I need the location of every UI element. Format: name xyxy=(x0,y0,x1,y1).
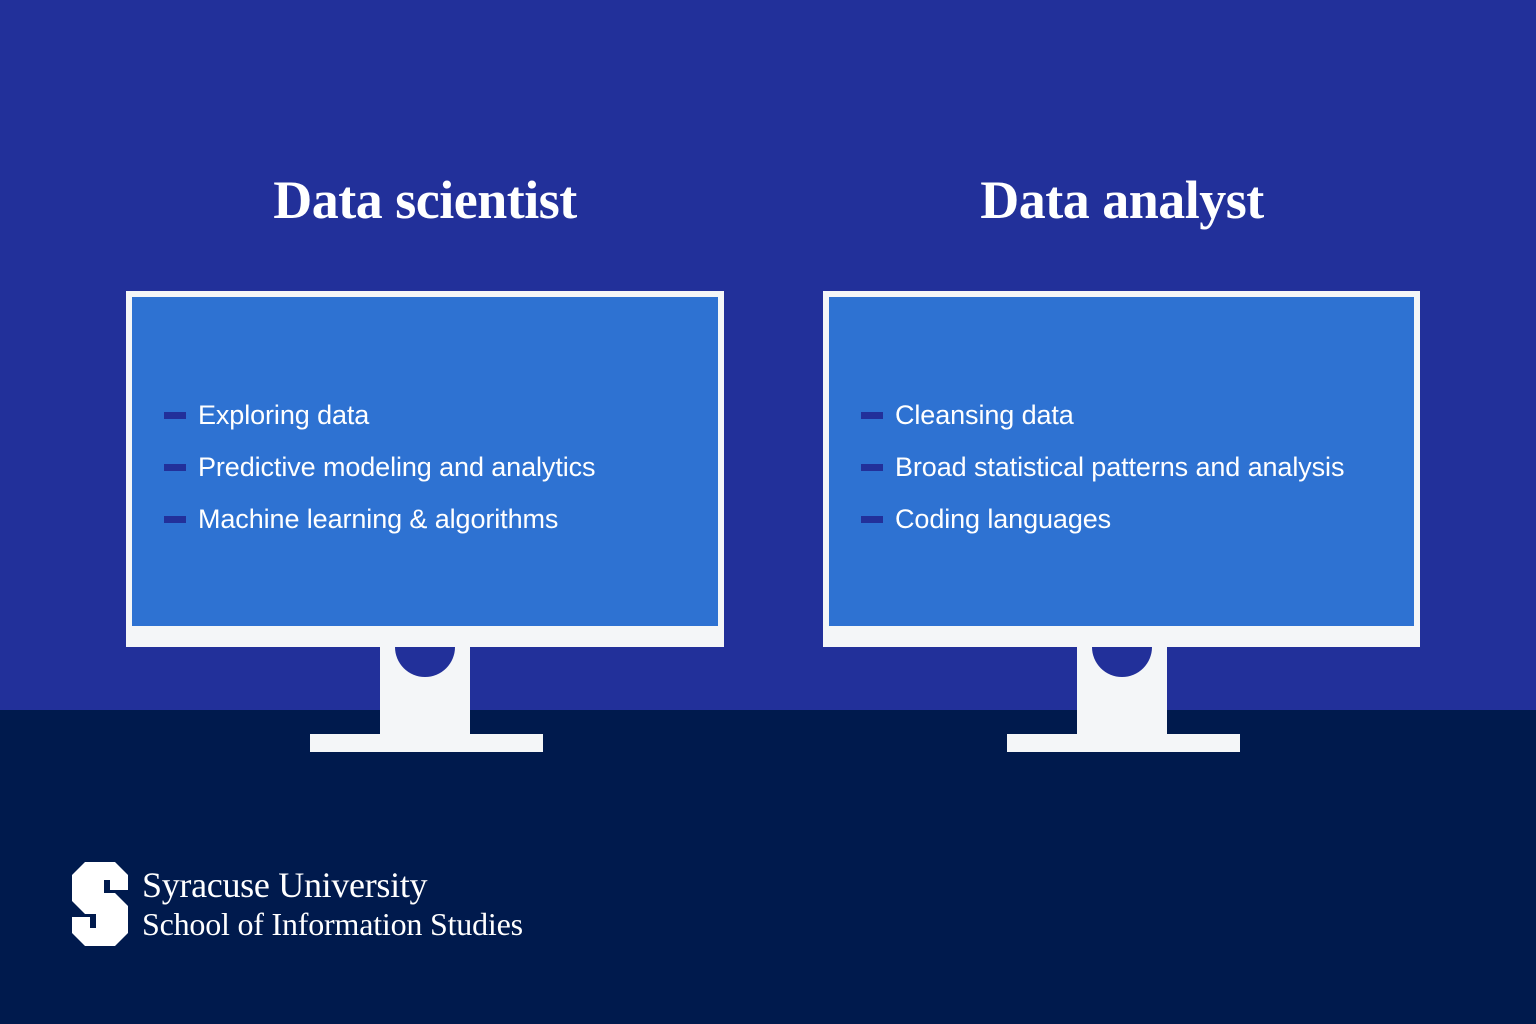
monitor-stand-neck-right xyxy=(1077,647,1167,734)
logo-line-school: School of Information Studies xyxy=(142,905,523,943)
bullet-list-data-analyst: Cleansing data Broad statistical pattern… xyxy=(861,389,1404,545)
stand-notch-cutout-icon xyxy=(1092,647,1152,677)
list-item: Broad statistical patterns and analysis xyxy=(861,441,1404,493)
list-item-label: Coding languages xyxy=(895,503,1111,535)
stand-notch-cutout-icon xyxy=(395,647,455,677)
dash-bullet-icon xyxy=(164,516,186,523)
list-item: Exploring data xyxy=(164,389,708,441)
dash-bullet-icon xyxy=(861,412,883,419)
dash-bullet-icon xyxy=(861,464,883,471)
list-item-label: Broad statistical patterns and analysis xyxy=(895,451,1344,483)
bullet-list-data-scientist: Exploring data Predictive modeling and a… xyxy=(164,389,708,545)
column-title-data-analyst: Data analyst xyxy=(812,168,1432,232)
list-item-label: Exploring data xyxy=(198,399,369,431)
syracuse-block-s-icon xyxy=(72,862,128,946)
dash-bullet-icon xyxy=(861,516,883,523)
dash-bullet-icon xyxy=(164,464,186,471)
list-item: Predictive modeling and analytics xyxy=(164,441,708,493)
monitor-data-analyst: Cleansing data Broad statistical pattern… xyxy=(823,291,1420,647)
syracuse-logo-text: Syracuse University School of Informatio… xyxy=(142,865,523,943)
monitor-data-scientist: Exploring data Predictive modeling and a… xyxy=(126,291,724,647)
list-item: Machine learning & algorithms xyxy=(164,493,708,545)
monitor-stand-base-left xyxy=(310,734,543,752)
infographic-canvas: Data scientist Exploring data Predictive… xyxy=(0,0,1536,1024)
list-item-label: Machine learning & algorithms xyxy=(198,503,558,535)
logo-line-university: Syracuse University xyxy=(142,865,523,905)
list-item: Cleansing data xyxy=(861,389,1404,441)
dash-bullet-icon xyxy=(164,412,186,419)
column-title-data-scientist: Data scientist xyxy=(115,168,735,232)
monitor-screen-data-analyst: Cleansing data Broad statistical pattern… xyxy=(829,297,1414,626)
monitor-stand-base-right xyxy=(1007,734,1240,752)
list-item-label: Cleansing data xyxy=(895,399,1074,431)
list-item: Coding languages xyxy=(861,493,1404,545)
syracuse-logo: Syracuse University School of Informatio… xyxy=(72,862,523,946)
monitor-stand-neck-left xyxy=(380,647,470,734)
list-item-label: Predictive modeling and analytics xyxy=(198,451,595,483)
monitor-screen-data-scientist: Exploring data Predictive modeling and a… xyxy=(132,297,718,626)
